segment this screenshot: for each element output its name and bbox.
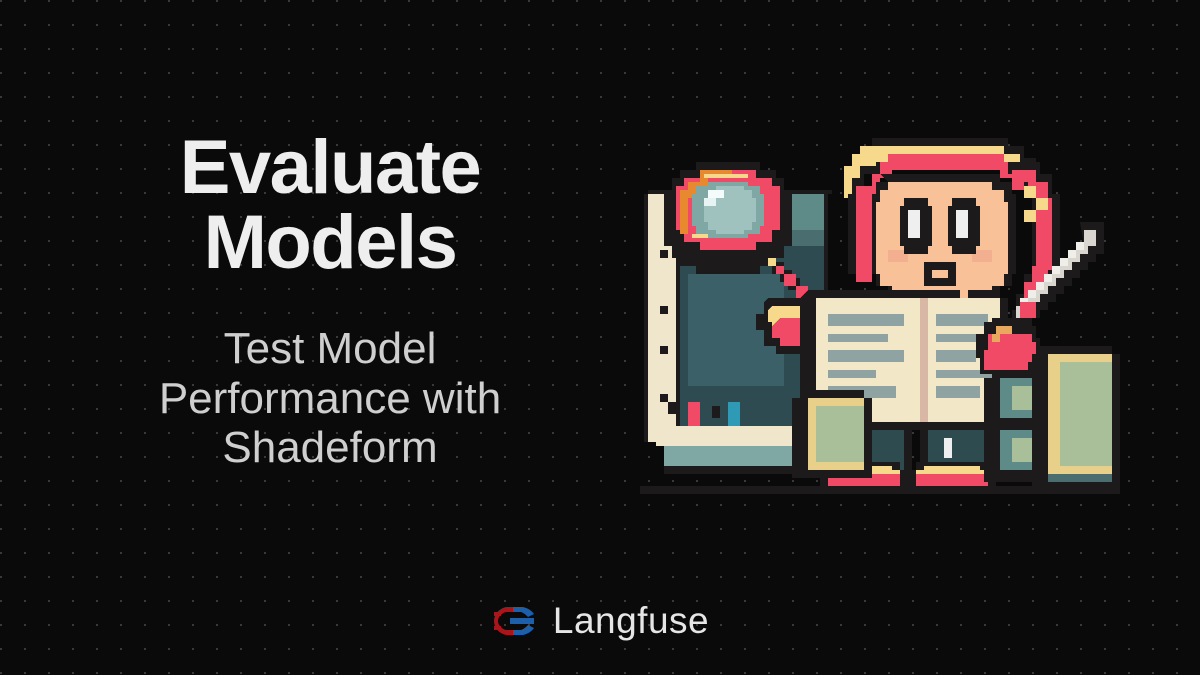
page-subtitle: Test Model Performance with Shadeform — [159, 324, 501, 472]
character-head — [844, 138, 1060, 306]
langfuse-logo-icon — [491, 601, 537, 641]
hero-text-block: Evaluate Models Test Model Performance w… — [60, 130, 600, 472]
left-small-book — [792, 390, 872, 478]
illustration-svg — [640, 138, 1120, 494]
slide-canvas: Evaluate Models Test Model Performance w… — [0, 0, 1200, 675]
brand-name: Langfuse — [553, 600, 709, 642]
page-title: Evaluate Models — [180, 130, 481, 280]
right-tall-book — [1032, 346, 1120, 490]
pixel-art-illustration — [640, 138, 1120, 494]
brand-footer: Langfuse — [0, 600, 1200, 642]
floor-line — [640, 486, 1120, 494]
